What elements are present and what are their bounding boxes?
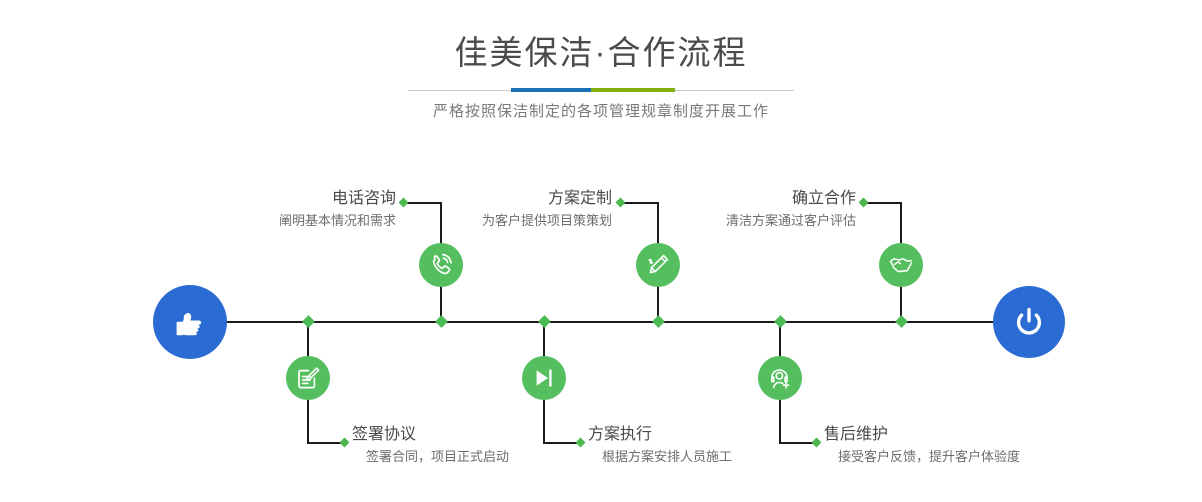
- axis-marker: [538, 315, 551, 328]
- step-desc: 签署合同，项目正式启动: [352, 447, 509, 467]
- axis-marker: [774, 315, 787, 328]
- step-desc: 根据方案安排人员施工: [588, 447, 732, 467]
- label-marker: [812, 438, 822, 448]
- step-node-1[interactable]: [286, 356, 330, 400]
- label-marker: [616, 198, 626, 208]
- step-label-1: 签署协议 签署合同，项目正式启动: [352, 424, 509, 467]
- step-node-4[interactable]: [636, 243, 680, 287]
- step-label-4: 方案定制 为客户提供项目策策划: [386, 188, 612, 231]
- step-desc: 接受客户反馈，提升客户体验度: [824, 447, 1020, 467]
- step-title: 电话咨询: [170, 188, 396, 210]
- pencil-design-icon: [645, 252, 671, 278]
- axis-marker: [895, 315, 908, 328]
- page-subtitle: 严格按照保洁制定的各项管理规章制度开展工作: [0, 102, 1202, 122]
- header: 佳美保洁·合作流程 严格按照保洁制定的各项管理规章制度开展工作: [0, 32, 1202, 122]
- label-marker: [859, 198, 869, 208]
- step-node-3[interactable]: [522, 356, 566, 400]
- divider-segment-green: [591, 88, 675, 92]
- step-node-5[interactable]: [758, 356, 802, 400]
- axis-marker: [302, 315, 315, 328]
- timeline-end-endpoint: [993, 286, 1065, 358]
- label-marker: [340, 438, 350, 448]
- step-label-5: 售后维护 接受客户反馈，提升客户体验度: [824, 424, 1020, 467]
- handshake-icon: [888, 252, 914, 278]
- step-desc: 为客户提供项目策策划: [386, 211, 612, 231]
- title-divider: [408, 88, 794, 92]
- step-title: 确立合作: [630, 188, 856, 210]
- axis-marker: [435, 315, 448, 328]
- axis-marker: [652, 315, 665, 328]
- pointing-hand-icon: [170, 302, 210, 342]
- play-next-icon: [532, 366, 556, 390]
- label-marker: [576, 438, 586, 448]
- step-desc: 清洁方案通过客户评估: [630, 211, 856, 231]
- phone-call-icon: [428, 252, 454, 278]
- process-flow-infographic: 佳美保洁·合作流程 严格按照保洁制定的各项管理规章制度开展工作: [0, 0, 1202, 502]
- power-icon: [1009, 302, 1049, 342]
- step-label-2: 电话咨询 阐明基本情况和需求: [170, 188, 396, 231]
- step-title: 方案定制: [386, 188, 612, 210]
- step-node-6[interactable]: [879, 243, 923, 287]
- step-title: 方案执行: [588, 424, 732, 446]
- connector-arm: [863, 202, 901, 204]
- step-title: 签署协议: [352, 424, 509, 446]
- customer-service-add-icon: [767, 365, 793, 391]
- step-node-2[interactable]: [419, 243, 463, 287]
- divider-segment-blue: [511, 88, 591, 92]
- step-label-3: 方案执行 根据方案安排人员施工: [588, 424, 732, 467]
- document-edit-icon: [295, 365, 321, 391]
- page-title: 佳美保洁·合作流程: [0, 32, 1202, 74]
- step-label-6: 确立合作 清洁方案通过客户评估: [630, 188, 856, 231]
- step-desc: 阐明基本情况和需求: [170, 211, 396, 231]
- step-title: 售后维护: [824, 424, 1020, 446]
- timeline-start-endpoint: [153, 285, 227, 359]
